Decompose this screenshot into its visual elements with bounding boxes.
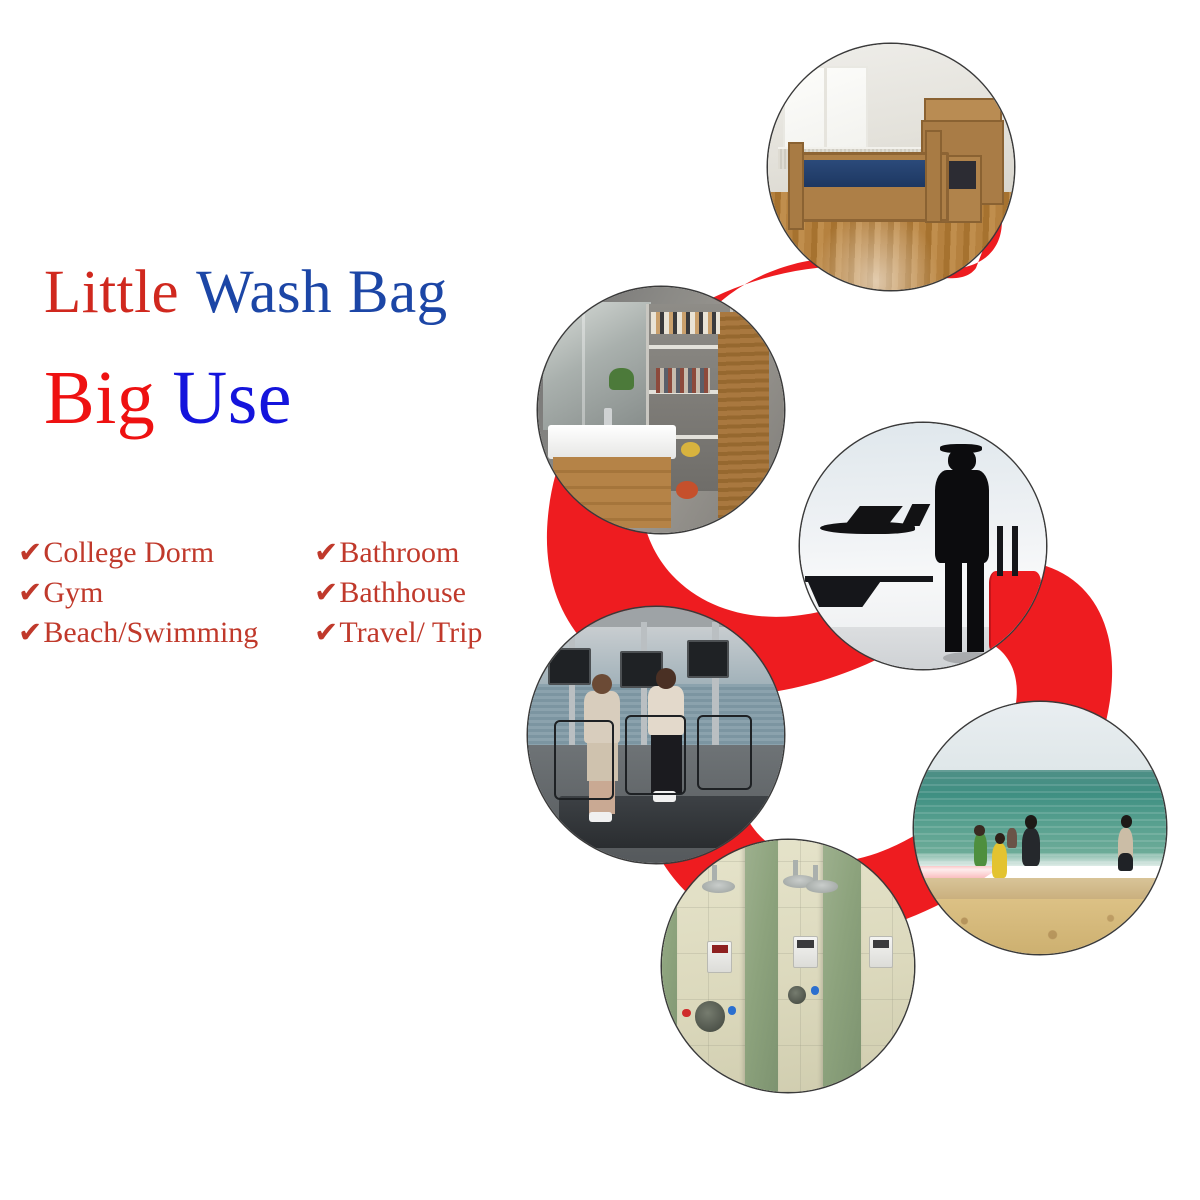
feature-label: Beach/Swimming: [43, 613, 258, 653]
photo-circle-gym: [528, 607, 784, 863]
feature-item-travel-trip: ✔Travel/ Trip: [314, 612, 514, 652]
feature-label: Travel/ Trip: [339, 613, 482, 653]
feature-item-bathroom: ✔Bathroom: [314, 532, 514, 572]
photo-circle-bathroom: [538, 287, 784, 533]
feature-checklist: ✔College Dorm ✔Gym ✔Beach/Swimming ✔Bath…: [18, 532, 518, 652]
check-icon: ✔: [18, 612, 42, 652]
headline-word-wash-bag: Wash Bag: [196, 259, 448, 326]
airplane-icon: [820, 504, 928, 546]
photo-circle-college-dorm: [768, 44, 1014, 290]
photo-circle-bathhouse: [662, 840, 914, 1092]
check-icon: ✔: [314, 572, 338, 612]
feature-label: Gym: [43, 573, 103, 613]
check-icon: ✔: [18, 532, 42, 572]
photo-circle-travel-trip: [800, 423, 1046, 669]
text-panel: LittleWash Bag BigUse ✔College Dorm ✔Gym…: [0, 0, 520, 1200]
check-icon: ✔: [314, 532, 338, 572]
feature-label: College Dorm: [43, 533, 214, 573]
check-icon: ✔: [18, 572, 42, 612]
feature-item-beach-swimming: ✔Beach/Swimming: [18, 612, 314, 652]
feature-item-college-dorm: ✔College Dorm: [18, 532, 314, 572]
headline-word-little: Little: [44, 259, 179, 326]
headline-word-use: Use: [172, 356, 292, 440]
headline-line-2: BigUse: [44, 360, 292, 436]
feature-item-bathhouse: ✔Bathhouse: [314, 572, 514, 612]
photo-circle-beach-swimming: [914, 702, 1166, 954]
feature-label: Bathroom: [339, 533, 459, 573]
feature-label: Bathhouse: [339, 573, 466, 613]
feature-item-gym: ✔Gym: [18, 572, 314, 612]
headline-word-big: Big: [44, 356, 155, 440]
suitcase-icon: [989, 571, 1040, 655]
check-icon: ✔: [314, 612, 338, 652]
feature-column-right: ✔Bathroom ✔Bathhouse ✔Travel/ Trip: [314, 532, 514, 652]
product-infographic-poster: LittleWash Bag BigUse ✔College Dorm ✔Gym…: [0, 0, 1200, 1200]
headline-line-1: LittleWash Bag: [44, 262, 448, 323]
feature-column-left: ✔College Dorm ✔Gym ✔Beach/Swimming: [18, 532, 314, 652]
dorm-window-icon: [783, 66, 868, 154]
